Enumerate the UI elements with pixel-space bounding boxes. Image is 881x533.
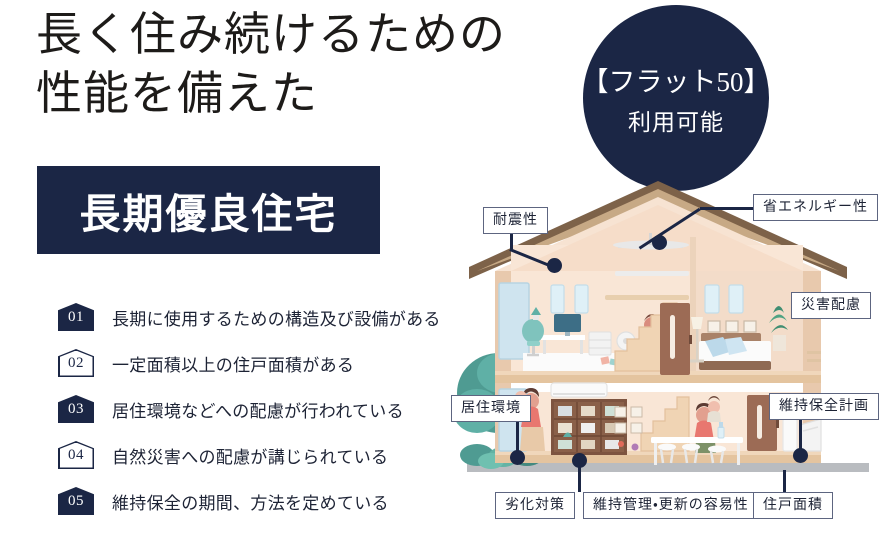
- callout-seismic[interactable]: 耐震性: [483, 207, 548, 234]
- leader-line-floor-area: [783, 470, 786, 492]
- list-item: 03 居住環境などへの配慮が行われている: [58, 388, 438, 430]
- requirement-text: 自然災害への配慮が講じられている: [112, 443, 388, 468]
- requirement-number: 01: [68, 309, 84, 326]
- requirement-list: 01 長期に使用するための構造及び設備がある 02 一定面積以上の住戸面積がある…: [58, 296, 438, 526]
- callout-living-environment[interactable]: 居住環境: [451, 395, 531, 422]
- flat50-badge-line-1: 【フラット50】: [582, 60, 771, 99]
- requirement-number: 04: [68, 447, 84, 464]
- title-plate: 長期優良住宅: [37, 166, 380, 254]
- callout-maintenance-plan[interactable]: 維持保全計画: [769, 393, 879, 420]
- requirement-badge-01: 01: [58, 303, 94, 331]
- requirement-text: 維持保全の期間、方法を定めている: [112, 489, 389, 514]
- leader-dot-seismic: [547, 258, 562, 273]
- requirement-badge-inner: 02: [60, 351, 93, 376]
- list-item: 01 長期に使用するための構造及び設備がある: [58, 296, 438, 338]
- leader-line-seismic: [510, 233, 513, 249]
- callout-floor-area[interactable]: 住戸面積: [753, 492, 833, 519]
- requirement-number: 02: [68, 355, 84, 372]
- list-item: 04 自然災害への配慮が講じられている: [58, 434, 438, 476]
- second-floor-slab: [495, 371, 821, 392]
- requirement-text: 長期に使用するための構造及び設備がある: [112, 305, 441, 330]
- leader-dot-maintenance-plan: [793, 448, 808, 463]
- title-plate-label: 長期優良住宅: [80, 180, 338, 240]
- leader-line-maintenance-plan: [799, 419, 802, 451]
- first-floor-slab: [495, 451, 821, 463]
- requirement-badge-inner: 04: [60, 443, 93, 468]
- second-floor-door: [660, 303, 692, 375]
- requirement-badge-04: 04: [58, 441, 94, 469]
- leader-dot-degradation: [572, 453, 587, 468]
- flat50-badge: 【フラット50】 利用可能: [583, 5, 769, 191]
- flat50-badge-line-2: 利用可能: [628, 103, 724, 137]
- leader-line-energy: [700, 207, 754, 210]
- requirement-text: 一定面積以上の住戸面積がある: [112, 351, 354, 376]
- leader-line-living-environment: [516, 421, 519, 453]
- requirement-badge-02: 02: [58, 349, 94, 377]
- requirement-number: 05: [68, 493, 84, 510]
- list-item: 05 維持保全の期間、方法を定めている: [58, 480, 438, 522]
- leader-dot-energy: [652, 235, 667, 250]
- advertisement-page: 長く住み続けるための 性能を備えた 長期優良住宅 【フラット50】 利用可能 0…: [0, 0, 881, 533]
- headline-line-2: 性能を備えた: [36, 65, 596, 124]
- requirement-text: 居住環境などへの配慮が行われている: [112, 397, 404, 422]
- callout-degradation[interactable]: 劣化対策: [495, 492, 575, 519]
- page-title: 長く住み続けるための 性能を備えた: [36, 6, 596, 124]
- callout-maintenance-ease[interactable]: 維持管理・更新の容易性: [583, 492, 759, 519]
- requirement-badge-03: 03: [58, 395, 94, 423]
- list-item: 02 一定面積以上の住戸面積がある: [58, 342, 438, 384]
- callout-disaster[interactable]: 災害配慮: [791, 292, 871, 319]
- requirement-number: 03: [68, 401, 84, 418]
- leader-dot-living-environment: [510, 450, 525, 465]
- headline-line-1: 長く住み続けるための: [36, 6, 596, 65]
- requirement-badge-05: 05: [58, 487, 94, 515]
- callout-energy[interactable]: 省エネルギー性: [753, 194, 878, 221]
